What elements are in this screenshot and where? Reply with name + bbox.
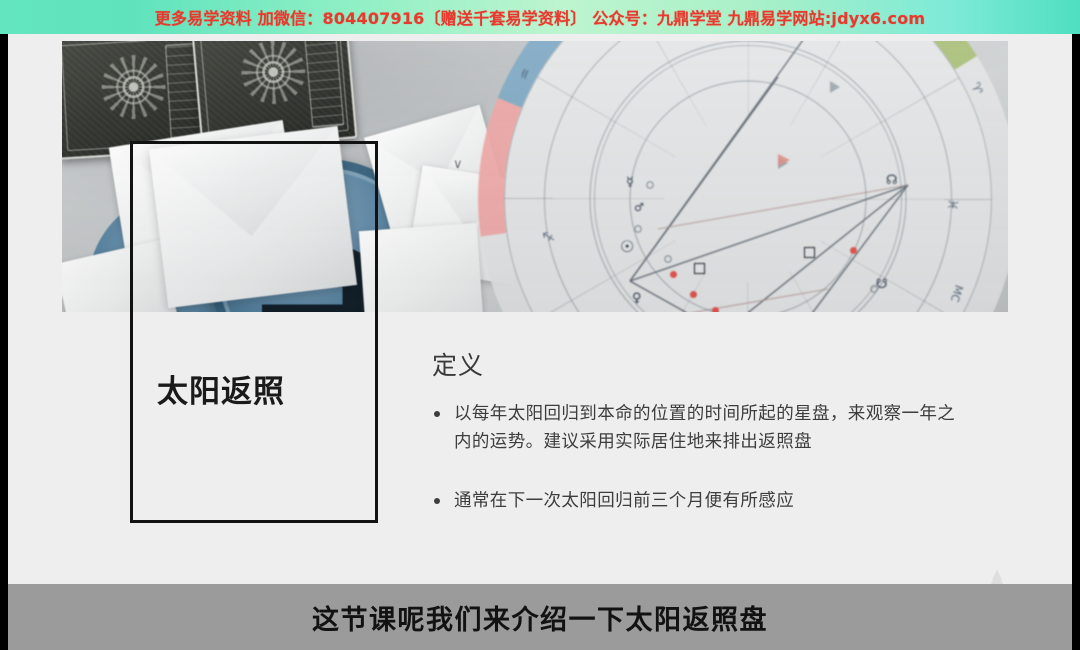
node-north-icon: ☊	[886, 173, 898, 188]
tarot-side-panel	[303, 41, 344, 128]
aspect-dot	[690, 291, 697, 298]
title-frame: 太阳返照	[130, 141, 378, 523]
zodiac-glyph-pisces-icon: ♓	[944, 198, 960, 211]
planet-mars-icon: ♂	[634, 201, 644, 214]
promo-banner-text: 更多易学资料 加微信：804407916〔赠送千套易学资料〕 公众号：九鼎学堂 …	[155, 5, 926, 29]
bullet-item: 以每年太阳回归到本命的位置的时间所起的星盘，来观察一年之内的运势。建议采用实际居…	[426, 400, 966, 457]
section-heading: 定义	[432, 346, 966, 382]
node-south-icon: ☋	[876, 277, 888, 292]
presentation-slide: ∨ ⌂	[8, 34, 1072, 650]
aspect-dot	[670, 271, 677, 278]
planet-venus-icon: ♀	[632, 291, 642, 306]
aspect-lines	[478, 41, 1008, 312]
tarot-medallion-icon	[239, 41, 308, 107]
definition-bullet-list: 以每年太阳回归到本命的位置的时间所起的星盘，来观察一年之内的运势。建议采用实际居…	[426, 400, 966, 515]
subtitle-text: 这节课呢我们来介绍一下太阳返照盘	[312, 598, 768, 637]
planet-sun-icon: ☉	[620, 237, 634, 256]
aspect-square	[694, 263, 705, 274]
bullet-item: 通常在下一次太阳回归前三个月便有所感应	[426, 487, 966, 515]
slide-title: 太阳返照	[157, 366, 285, 411]
aspect-dot	[712, 307, 719, 312]
planet-mercury-icon: ☿	[626, 175, 634, 190]
aspect-dot	[850, 247, 857, 254]
tarot-medallion-icon	[100, 53, 168, 121]
video-player-screen: 更多易学资料 加微信：804407916〔赠送千套易学资料〕 公众号：九鼎学堂 …	[0, 0, 1080, 650]
aspect-square	[804, 247, 815, 258]
subtitle-bar: 这节课呢我们来介绍一下太阳返照盘	[8, 584, 1072, 650]
promo-banner: 更多易学资料 加微信：804407916〔赠送千套易学资料〕 公众号：九鼎学堂 …	[0, 0, 1080, 34]
content-column: 定义 以每年太阳回归到本命的位置的时间所起的星盘，来观察一年之内的运势。建议采用…	[426, 346, 966, 545]
astrology-wheel: ♑ ♉ ♈ ♓ ♒ ♐ MC ☿ ♂ ☉ ♀ ♃ ☽ ☊ ☋	[478, 41, 1008, 312]
